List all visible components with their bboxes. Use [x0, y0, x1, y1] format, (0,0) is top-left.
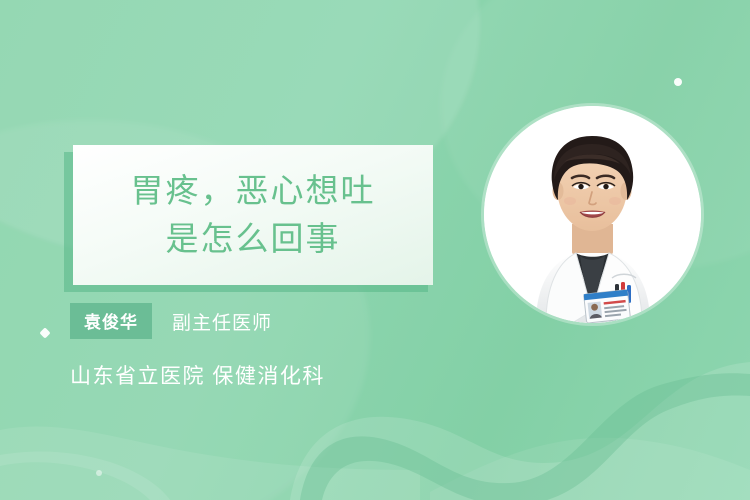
title-line-2: 是怎么回事 — [166, 218, 341, 260]
health-topic-banner: 胃疼，恶心想吐 是怎么回事 袁俊华 副主任医师 山东省立医院 保健消化科 — [0, 0, 750, 500]
doctor-name-badge: 袁俊华 — [70, 303, 152, 339]
decorative-dot-small-icon — [96, 470, 102, 476]
doctor-avatar — [484, 106, 701, 323]
title-line-1: 胃疼，恶心想吐 — [131, 170, 376, 212]
doctor-professional-title: 副主任医师 — [172, 308, 272, 335]
doctor-info-row: 袁俊华 副主任医师 — [70, 303, 272, 339]
title-card: 胃疼，恶心想吐 是怎么回事 — [73, 145, 433, 285]
doctor-portrait-icon — [484, 106, 701, 323]
decorative-dot-icon — [674, 78, 682, 86]
doctor-hospital-department: 山东省立医院 保健消化科 — [70, 360, 325, 390]
